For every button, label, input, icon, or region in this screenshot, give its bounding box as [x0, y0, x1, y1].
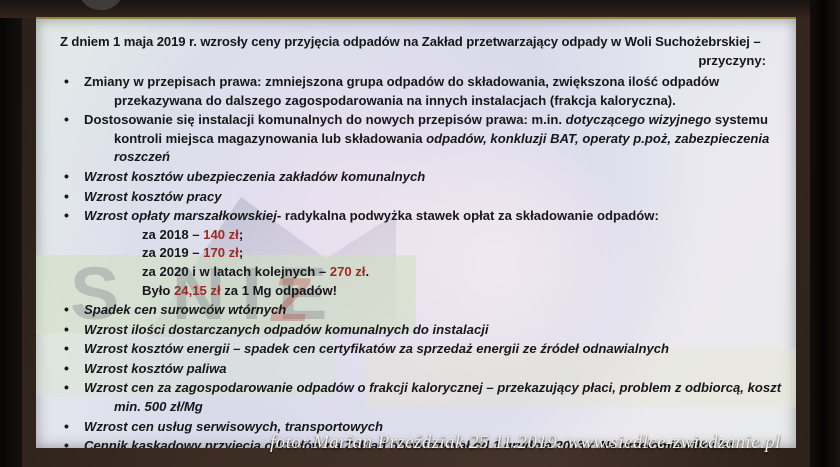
right-wall-strip	[810, 0, 840, 467]
slide-bullet-line: Dostosowanie się instalacji komunalnych …	[84, 111, 782, 130]
slide-bullet-line: Wzrost kosztów ubezpieczenia zakładów ko…	[84, 168, 782, 187]
fee-value: 24,15 zł	[174, 283, 221, 298]
slide-fee-row: za 2018 – 140 zł;	[142, 226, 782, 245]
slide-bullet-line: Spadek cen surowców wtórnych	[84, 301, 782, 320]
slide-bullet-line: Wzrost kosztów paliwa	[84, 360, 782, 379]
slide-bullet-item: Wzrost opłaty marszałkowskiej- radykalna…	[54, 207, 782, 300]
slide-bullet-line: min. 500 zł/Mg	[84, 398, 782, 417]
photo-credit-caption: foto: Marian Przeździak 25.11.2019. www.…	[270, 432, 830, 454]
fee-label: za 2020 i w latach kolejnych –	[142, 264, 330, 279]
slide-bullet-item: Wzrost ilości dostarczanych odpadów komu…	[54, 321, 782, 340]
fee-value: 140 zł	[203, 227, 239, 242]
slide-bullet-line: Wzrost kosztów energii – spadek cen cert…	[84, 340, 782, 359]
slide-heading-subline: przyczyny:	[54, 52, 766, 71]
fee-value: 170 zł	[203, 245, 239, 260]
slide-bullet-item: Wzrost kosztów energii – spadek cen cert…	[54, 340, 782, 359]
fee-label: za 2018 –	[142, 227, 203, 242]
fee-label: Było	[142, 283, 174, 298]
left-wall-strip	[0, 0, 22, 467]
slide-fee-sublist: za 2018 – 140 zł;za 2019 – 170 zł;za 202…	[84, 226, 782, 300]
slide-bullet-line: Wzrost ilości dostarczanych odpadów komu…	[84, 321, 782, 340]
slide-bullet-line: roszczeń	[84, 148, 782, 167]
slide-bullet-line: Wzrost cen za zagospodarowanie odpadów o…	[84, 379, 782, 398]
slide-bullet-line: Wzrost kosztów pracy	[84, 188, 782, 207]
projected-slide-photo: S NIE Z Z dniem 1 maja 2019 r. wzrosły c…	[0, 0, 840, 467]
fee-suffix: .	[365, 264, 369, 279]
slide-heading: Z dniem 1 maja 2019 r. wzrosły ceny przy…	[60, 33, 782, 52]
slide-bullet-line: przekazywana do dalszego zagospodarowani…	[84, 92, 782, 111]
slide-surface: S NIE Z Z dniem 1 maja 2019 r. wzrosły c…	[36, 19, 796, 448]
slide-fee-row: Było 24,15 zł za 1 Mg odpadów!	[142, 282, 782, 301]
slide-bullet-item: Wzrost cen za zagospodarowanie odpadów o…	[54, 379, 782, 416]
slide-bullet-list: Zmiany w przepisach prawa: zmniejszona g…	[54, 73, 782, 448]
slide-fee-row: za 2020 i w latach kolejnych – 270 zł.	[142, 263, 782, 282]
slide-text-content: Z dniem 1 maja 2019 r. wzrosły ceny przy…	[36, 19, 796, 448]
fee-label: za 2019 –	[142, 245, 203, 260]
slide-bullet-item: Wzrost kosztów pracy	[54, 188, 782, 207]
slide-bullet-line: kontroli miejsca magazynowania lub skład…	[84, 130, 782, 149]
fee-suffix: ;	[239, 227, 243, 242]
top-dark-bar	[0, 0, 812, 18]
slide-bullet-item: Zmiany w przepisach prawa: zmniejszona g…	[54, 73, 782, 110]
slide-fee-row: za 2019 – 170 zł;	[142, 244, 782, 263]
slide-bullet-line: Zmiany w przepisach prawa: zmniejszona g…	[84, 73, 782, 92]
slide-bullet-item: Spadek cen surowców wtórnych	[54, 301, 782, 320]
fee-value: 270 zł	[330, 264, 366, 279]
fee-suffix: ;	[239, 245, 243, 260]
fee-suffix: za 1 Mg odpadów!	[221, 283, 337, 298]
slide-bullet-item: Wzrost kosztów ubezpieczenia zakładów ko…	[54, 168, 782, 187]
slide-bullet-item: Wzrost kosztów paliwa	[54, 360, 782, 379]
slide-bullet-line: Wzrost opłaty marszałkowskiej- radykalna…	[84, 207, 782, 226]
slide-bullet-item: Dostosowanie się instalacji komunalnych …	[54, 111, 782, 167]
